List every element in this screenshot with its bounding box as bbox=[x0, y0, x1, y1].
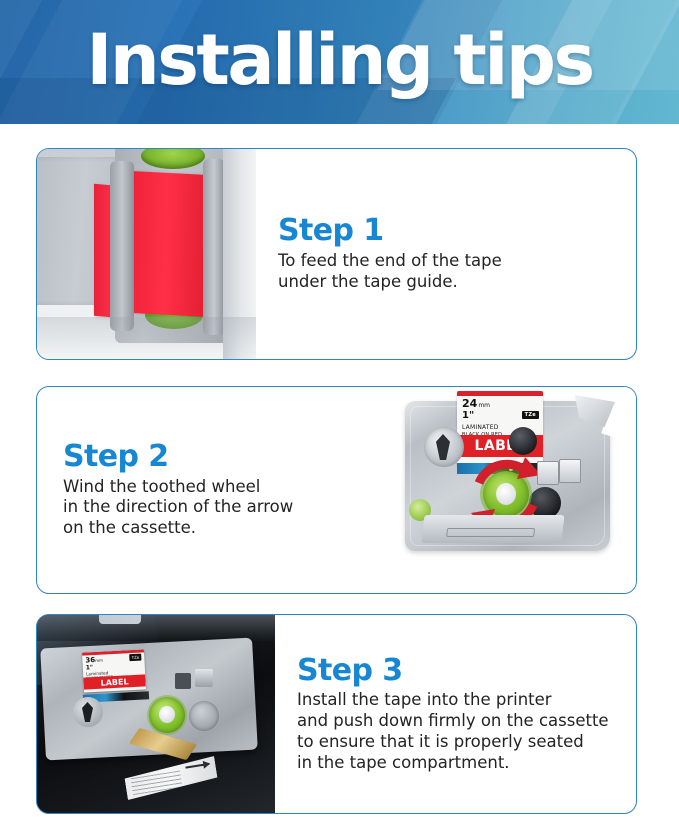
step-1-title: Step 1 bbox=[278, 215, 624, 247]
photo2-label-inch: 1" bbox=[462, 411, 474, 421]
step-3-title: Step 3 bbox=[297, 655, 624, 687]
photo3-slot-right bbox=[195, 669, 213, 687]
step-2-text-column: Step 2 Wind the toothed wheel in the dir… bbox=[37, 387, 387, 593]
photo3-label-width-unit: mm bbox=[95, 658, 103, 663]
step-2-photo: 24mm 1" TZe LAMINATED BLACK ON RED LABEL bbox=[387, 387, 636, 593]
photo3-label-brandword: LABEL bbox=[100, 677, 128, 687]
photo2-label-width-unit: mm bbox=[478, 402, 490, 409]
step-card-1: Step 1 To feed the end of the tape under… bbox=[36, 148, 637, 360]
photo2-label-width-value: 24 bbox=[462, 397, 477, 410]
page-title: Installing tips bbox=[0, 12, 679, 108]
photo2-slot-left bbox=[537, 461, 559, 485]
page-header-banner: Installing tips bbox=[0, 0, 679, 124]
photo2-supply-hub bbox=[424, 427, 464, 467]
photo3-roller-ring bbox=[189, 701, 219, 731]
photo3-cassette-label: 36mm TZe 1" Laminated BLACK ON RED LABEL bbox=[82, 649, 146, 692]
photo1-guide-post-right bbox=[203, 159, 225, 335]
photo2-label-badge: TZe bbox=[522, 411, 539, 419]
photo3-label-badge: TZe bbox=[129, 654, 141, 662]
photo2-slot-right bbox=[559, 459, 581, 483]
step-3-text-column: Step 3 Install the tape into the printer… bbox=[275, 615, 636, 813]
photo1-red-tape-main bbox=[134, 171, 206, 317]
step-card-3: 36mm TZe 1" Laminated BLACK ON RED LABEL… bbox=[36, 614, 637, 814]
photo3-supply-hub bbox=[73, 697, 103, 727]
photo3-label-red-band: LABEL bbox=[83, 674, 146, 689]
step-2-body: Wind the toothed wheel in the direction … bbox=[63, 477, 377, 539]
photo2-label-red-topline bbox=[457, 391, 543, 396]
photo2-label-laminated: LAMINATED bbox=[462, 424, 499, 431]
step-1-text-column: Step 1 To feed the end of the tape under… bbox=[256, 149, 636, 359]
photo1-floor-shadow bbox=[37, 317, 256, 359]
photo2-black-hub-upper bbox=[509, 427, 537, 455]
step-card-2: 24mm 1" TZe LAMINATED BLACK ON RED LABEL bbox=[36, 386, 637, 594]
photo3-slot-left bbox=[175, 673, 191, 689]
photo3-toothed-wheel bbox=[149, 697, 185, 733]
photo2-label-width: 24mm bbox=[462, 398, 490, 409]
step-1-body: To feed the end of the tape under the ta… bbox=[278, 251, 624, 293]
step-3-photo: 36mm TZe 1" Laminated BLACK ON RED LABEL bbox=[37, 615, 275, 813]
photo1-guide-post-left bbox=[110, 161, 134, 331]
step-2-title: Step 2 bbox=[63, 441, 377, 473]
photo3-label-width: 36mm bbox=[85, 656, 103, 665]
photo2-cassette-foot bbox=[422, 515, 565, 543]
photo3-sticker-arrow-icon bbox=[185, 763, 209, 769]
step-3-body: Install the tape into the printer and pu… bbox=[297, 690, 624, 773]
step-1-photo bbox=[37, 149, 256, 359]
